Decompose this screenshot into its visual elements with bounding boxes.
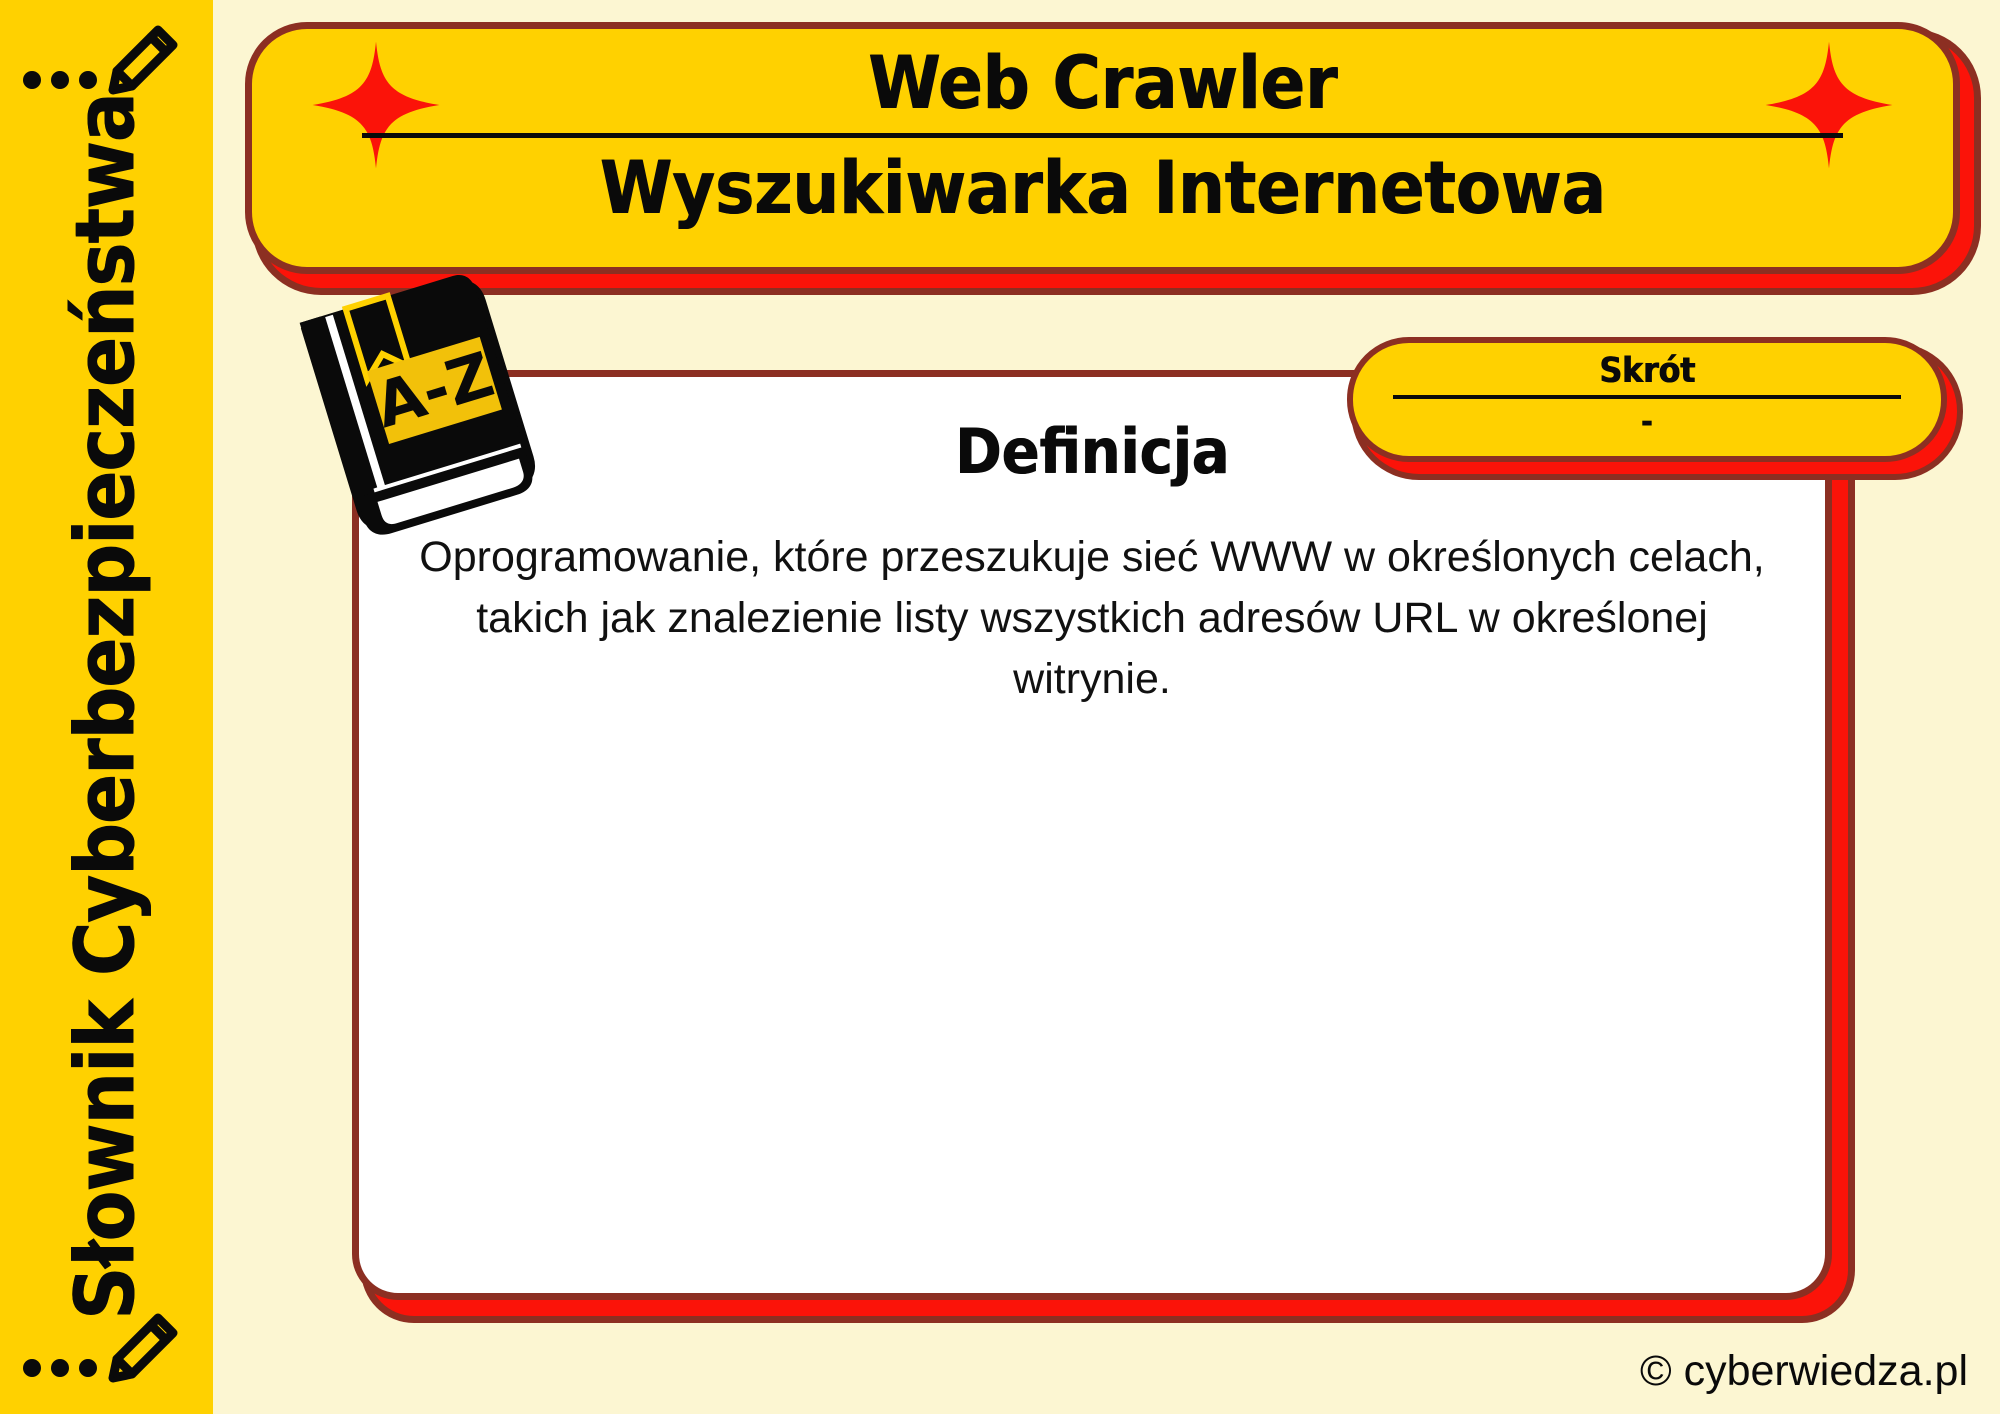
abbreviation-badge: Skrót - [1347, 337, 1947, 462]
footer-credit: © cyberwiedza.pl [1640, 1347, 1968, 1396]
header-card: Web Crawler Wyszukiwarka Internetowa [245, 22, 1960, 274]
header-divider [362, 133, 1843, 138]
page-title: Web Crawler [352, 41, 1853, 127]
pencil-edit-icon-bottom [18, 1306, 198, 1396]
definition-text: Oprogramowanie, które przeszukuje sieć W… [417, 527, 1767, 710]
slide-root: Słownik Cyberbezpieczeństwa [0, 0, 2000, 1414]
sidebar-title: Słownik Cyberbezpieczeństwa [66, 94, 148, 1321]
abbreviation-label: Skrót [1385, 351, 1909, 391]
abbreviation-divider [1393, 395, 1901, 399]
header-titles: Web Crawler Wyszukiwarka Internetowa [352, 41, 1853, 232]
sidebar: Słownik Cyberbezpieczeństwa [0, 0, 213, 1414]
page-subtitle: Wyszukiwarka Internetowa [352, 146, 1853, 232]
sidebar-title-container: Słownik Cyberbezpieczeństwa [0, 0, 213, 1414]
abbreviation-value: - [1385, 405, 1909, 439]
definition-card: Definicja Oprogramowanie, które przeszuk… [352, 370, 1832, 1300]
pencil-edit-icon-top [18, 18, 198, 108]
dictionary-book-icon: A-Z [292, 262, 542, 542]
